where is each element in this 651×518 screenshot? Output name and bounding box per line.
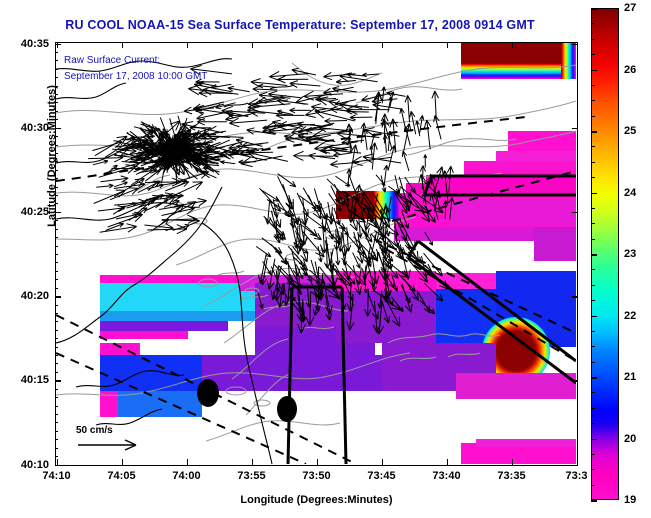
x-axis-tick-label: 74:05 (92, 470, 152, 482)
x-axis-tick-mark (252, 42, 254, 48)
y-axis-tick-mark (55, 380, 61, 382)
y-axis-tick-mark (55, 296, 61, 298)
colorbar-tick-label: 22 (624, 310, 636, 322)
colorbar-minor-tick (591, 239, 595, 240)
colorbar-tick-mark (591, 316, 597, 318)
colorbar-tick-mark (591, 131, 597, 133)
y-axis-minor-tick (55, 321, 58, 322)
x-axis-tick-mark (512, 459, 514, 465)
y-axis-minor-tick (55, 363, 58, 364)
y-axis-tick-mark (572, 380, 578, 382)
colorbar-minor-tick (591, 269, 595, 270)
y-axis-minor-tick (55, 347, 58, 348)
y-axis-tick-label: 40:20 (3, 290, 49, 302)
x-axis-tick-label: 73:55 (222, 470, 282, 482)
map-plot-area[interactable]: Raw Surface Current: September 17, 2008 … (55, 42, 578, 466)
colorbar-minor-tick (591, 23, 595, 24)
x-axis-tick-label: 73:45 (352, 470, 412, 482)
colorbar-minor-tick (591, 423, 595, 424)
y-axis-minor-tick (55, 422, 58, 423)
y-axis-minor-tick (55, 389, 58, 390)
annotation-line-1: Raw Surface Current: (64, 55, 160, 66)
colorbar-minor-tick (591, 285, 595, 286)
velocity-scale-label: 50 cm/s (76, 425, 146, 436)
y-axis-minor-tick (55, 313, 58, 314)
x-axis-tick-label: 73:50 (287, 470, 347, 482)
colorbar-tick-label: 26 (624, 64, 636, 76)
x-axis-tick-mark (382, 42, 384, 48)
y-axis-minor-tick (55, 406, 58, 407)
colorbar-tick-label: 25 (624, 125, 636, 137)
y-axis-tick-label: 40:35 (3, 38, 49, 50)
colorbar-minor-tick (591, 392, 595, 393)
station-marker-east[interactable] (277, 396, 297, 422)
station-marker-west[interactable] (197, 379, 219, 407)
x-axis-tick-mark (447, 459, 449, 465)
x-axis-tick-mark (122, 42, 124, 48)
colorbar-tick-mark (591, 8, 597, 10)
colorbar-minor-tick (591, 408, 595, 409)
y-axis-minor-tick (55, 439, 58, 440)
x-axis-tick-mark (252, 459, 254, 465)
colorbar-minor-tick (591, 116, 595, 117)
y-axis-minor-tick (55, 338, 58, 339)
y-axis-minor-tick (55, 431, 58, 432)
colorbar-tick-mark (591, 377, 597, 379)
colorbar-minor-tick (591, 100, 595, 101)
y-axis-minor-tick (55, 355, 58, 356)
colorbar-tick-mark (591, 439, 597, 441)
colorbar-minor-tick (591, 177, 595, 178)
colorbar-minor-tick (591, 208, 595, 209)
colorbar-minor-tick (591, 85, 595, 86)
velocity-scale-legend: 50 cm/s (76, 425, 146, 459)
colorbar-tick-label: 19 (624, 494, 636, 506)
y-axis-tick-label: 40:10 (3, 459, 49, 471)
y-axis-minor-tick (55, 448, 58, 449)
colorbar-tick-label: 27 (624, 2, 636, 14)
y-axis-tick-mark (572, 296, 578, 298)
colorbar-tick-label: 21 (624, 371, 636, 383)
x-axis-tick-mark (317, 42, 319, 48)
figure-title: RU COOL NOAA-15 Sea Surface Temperature:… (0, 18, 600, 32)
y-axis-minor-tick (55, 397, 58, 398)
x-axis-tick-label: 74:10 (27, 470, 87, 482)
colorbar-tick-mark (591, 254, 597, 256)
colorbar-minor-tick (591, 300, 595, 301)
y-axis-minor-tick (55, 330, 58, 331)
colorbar-minor-tick (591, 469, 595, 470)
annotation-line-2: September 17, 2008 10:00 GMT (64, 71, 207, 82)
x-axis-tick-label: 73:40 (417, 470, 477, 482)
colorbar-minor-tick (591, 39, 595, 40)
colorbar-minor-tick (591, 162, 595, 163)
x-axis-tick-mark (57, 42, 59, 48)
y-axis-tick-mark (572, 128, 578, 130)
y-axis-minor-tick (55, 271, 58, 272)
colorbar-minor-tick (591, 331, 595, 332)
colorbar-tick-label: 23 (624, 248, 636, 260)
colorbar-minor-tick (591, 485, 595, 486)
x-axis-tick-mark (187, 42, 189, 48)
right-arrow-icon (76, 436, 146, 454)
y-axis-tick-label: 40:25 (3, 206, 49, 218)
x-axis-tick-mark (187, 459, 189, 465)
y-axis-minor-tick (55, 305, 58, 306)
x-axis-tick-mark (577, 42, 579, 48)
sst-map-figure: RU COOL NOAA-15 Sea Surface Temperature:… (0, 0, 651, 518)
colorbar-minor-tick (591, 146, 595, 147)
y-axis-minor-tick (55, 52, 58, 53)
x-axis-tick-label: 74:00 (157, 470, 217, 482)
y-axis-tick-label: 40:15 (3, 374, 49, 386)
colorbar-tick-label: 24 (624, 187, 636, 199)
x-axis-label: Longitude (Degrees:Minutes) (55, 494, 578, 506)
x-axis-tick-mark (122, 459, 124, 465)
colorbar-minor-tick (591, 223, 595, 224)
y-axis-minor-tick (55, 414, 58, 415)
y-axis-label: Latitude (Degrees:Minutes) (46, 56, 58, 256)
y-axis-tick-label: 40:30 (3, 122, 49, 134)
x-axis-tick-mark (382, 459, 384, 465)
x-axis-tick-mark (57, 459, 59, 465)
colorbar-tick-mark (591, 500, 597, 502)
y-axis-minor-tick (55, 456, 58, 457)
colorbar-tick-mark (591, 70, 597, 72)
y-axis-minor-tick (55, 372, 58, 373)
y-axis-minor-tick (55, 279, 58, 280)
y-axis-tick-mark (572, 212, 578, 214)
station-marker-layer[interactable] (56, 43, 576, 464)
colorbar-tick-mark (591, 193, 597, 195)
x-axis-tick-mark (577, 459, 579, 465)
colorbar-tick-label: 20 (624, 433, 636, 445)
colorbar-minor-tick (591, 54, 595, 55)
x-axis-tick-mark (512, 42, 514, 48)
x-axis-tick-label: 73:35 (482, 470, 542, 482)
x-axis-tick-mark (317, 459, 319, 465)
colorbar-minor-tick (591, 346, 595, 347)
colorbar-minor-tick (591, 454, 595, 455)
y-axis-minor-tick (55, 262, 58, 263)
x-axis-tick-mark (447, 42, 449, 48)
y-axis-minor-tick (55, 288, 58, 289)
colorbar-minor-tick (591, 362, 595, 363)
